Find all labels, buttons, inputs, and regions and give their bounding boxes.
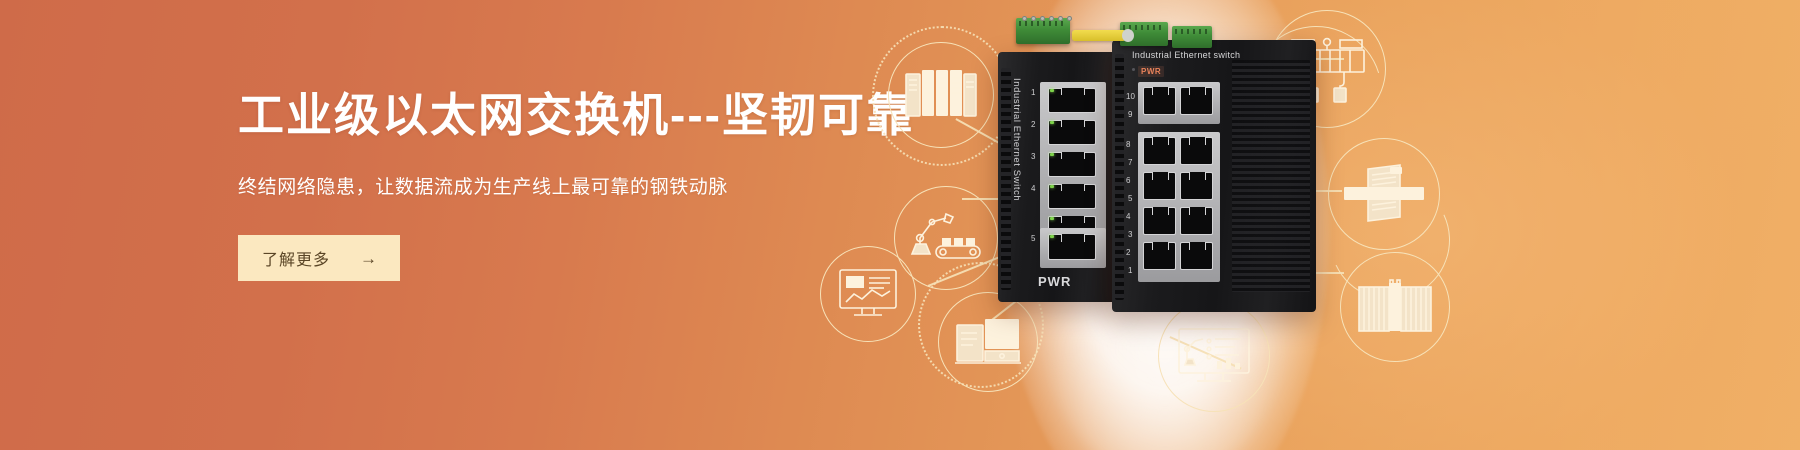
cable-connector [1122,29,1134,42]
port-number: 2 [1126,248,1130,257]
port-number: 3 [1128,230,1132,239]
vent-fins [1001,68,1011,290]
plc-rack-icon [888,42,994,148]
din-rail-icon [1328,138,1440,250]
port-number: 5 [1128,194,1132,203]
port-number: 2 [1031,120,1035,129]
port-number: 10 [1126,92,1135,101]
product-illustration: Industrial Ethernet Switch 1 2 3 4 5 [820,0,1800,450]
port-number: 3 [1031,152,1035,161]
port-number: 7 [1128,158,1132,167]
hmi-monitor-icon [820,246,916,342]
heatsink-face [1232,60,1310,292]
learn-more-button[interactable]: 了解更多 → [238,235,400,281]
yellow-cable [1072,30,1126,41]
vent-fins [1115,54,1124,300]
port-number: 6 [1126,176,1130,185]
port-number: 9 [1128,110,1132,119]
page-title: 工业级以太网交换机---坚韧可靠 [238,90,878,141]
switch-unit-right: Industrial Ethernet switch PWR 10 9 [1112,40,1316,312]
terminal-screws [1022,16,1072,21]
hero-content: 工业级以太网交换机---坚韧可靠 终结网络隐患，让数据流成为生产线上最可靠的钢铁… [238,90,878,281]
switch-unit-left: Industrial Ethernet Switch 1 2 3 4 5 [998,52,1116,302]
switch-silkscreen-right: Industrial Ethernet switch [1132,50,1240,60]
terminal-block-green-left [1016,18,1070,44]
port-number: 8 [1126,140,1130,149]
power-led [1132,68,1135,71]
terminal-block-green-far [1172,26,1212,48]
heatsink-icon [1340,252,1450,362]
power-label-left: PWR [1038,274,1071,289]
port-number: 1 [1031,88,1035,97]
power-label-right: PWR [1138,66,1164,77]
arrow-right-icon: → [360,250,378,267]
port-number: 4 [1126,212,1130,221]
switch-silkscreen-left: Industrial Ethernet Switch [1011,78,1022,201]
learn-more-label: 了解更多 [262,246,330,270]
port-number: 5 [1031,234,1035,243]
hero-subtitle: 终结网络隐患，让数据流成为生产线上最可靠的钢铁动脉 [238,175,878,202]
cnc-machine-icon [938,292,1038,392]
hero-banner: 工业级以太网交换机---坚韧可靠 终结网络隐患，让数据流成为生产线上最可靠的钢铁… [0,0,1800,450]
robot-workstation-icon [1158,300,1270,412]
port-number: 4 [1031,184,1035,193]
port-number: 1 [1128,266,1132,275]
